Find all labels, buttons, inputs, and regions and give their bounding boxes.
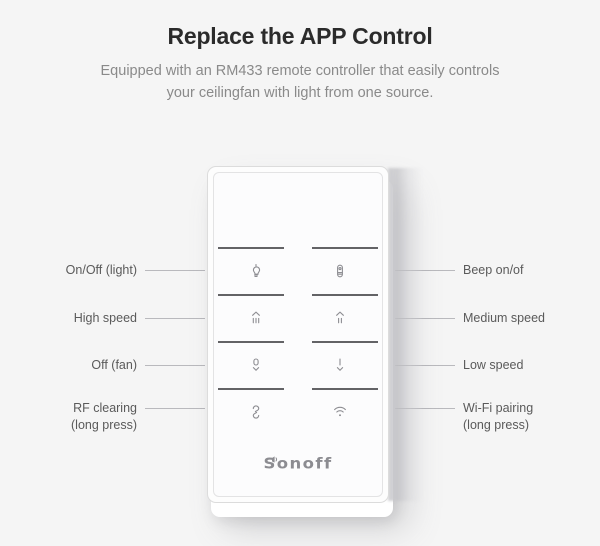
callout-label: Low speed [463, 357, 523, 374]
sonoff-logo: Sonoff [263, 454, 332, 471]
button-medium-speed[interactable] [298, 294, 382, 341]
callout-label: Medium speed [463, 310, 545, 327]
callout-label-main: RF clearing [73, 401, 137, 415]
button-beep-on-off[interactable] [298, 247, 382, 294]
rf-clearing-icon [243, 399, 269, 425]
leader-line [145, 270, 205, 271]
promo-page: Replace the APP Control Equipped with an… [0, 0, 600, 546]
light-bulb-icon [243, 258, 269, 284]
brand-logo-area: Sonoff [214, 430, 382, 496]
button-low-speed[interactable] [298, 341, 382, 388]
callout-label: RF clearing (long press) [71, 400, 137, 434]
rm433-remote-controller: Sonoff [207, 166, 389, 503]
fan-medium-icon [327, 305, 353, 331]
callout-label-sub: (long press) [71, 417, 137, 434]
subtitle-line-2: your ceilingfan with light from one sour… [167, 85, 434, 101]
page-header: Replace the APP Control Equipped with an… [0, 0, 600, 104]
device-face-panel: Sonoff [213, 172, 383, 497]
callout-label-main: Wi-Fi pairing [463, 401, 533, 415]
signal-wave-icon [270, 449, 279, 466]
callout-label: High speed [74, 310, 137, 327]
callout-label: Off (fan) [91, 357, 137, 374]
leader-line [145, 408, 205, 409]
leader-line [145, 365, 205, 366]
device-body: Sonoff [207, 166, 389, 503]
page-subtitle: Equipped with an RM433 remote controller… [0, 61, 600, 105]
button-grid [214, 247, 382, 435]
callout-label: Beep on/of [463, 262, 523, 279]
wifi-icon [327, 399, 353, 425]
device-top-blank-area [214, 173, 382, 247]
callout-label: Wi-Fi pairing (long press) [463, 400, 533, 434]
page-title: Replace the APP Control [0, 22, 600, 51]
device-side-gloss [388, 168, 422, 501]
fan-off-icon [243, 352, 269, 378]
beep-speaker-icon [327, 258, 353, 284]
button-off-fan[interactable] [214, 341, 298, 388]
callout-left-off-fan: Off (fan) [91, 357, 205, 374]
callout-left-high-speed: High speed [74, 310, 205, 327]
button-wifi-pairing[interactable] [298, 388, 382, 435]
fan-high-icon [243, 305, 269, 331]
callout-left-rf-clearing: RF clearing (long press) [71, 400, 205, 434]
button-high-speed[interactable] [214, 294, 298, 341]
button-rf-clearing[interactable] [214, 388, 298, 435]
callout-label-sub: (long press) [463, 417, 533, 434]
subtitle-line-1: Equipped with an RM433 remote controller… [101, 63, 500, 79]
callout-left-on-off-light: On/Off (light) [66, 262, 205, 279]
leader-line [145, 318, 205, 319]
fan-low-icon [327, 352, 353, 378]
button-on-off-light[interactable] [214, 247, 298, 294]
callout-label: On/Off (light) [66, 262, 137, 279]
